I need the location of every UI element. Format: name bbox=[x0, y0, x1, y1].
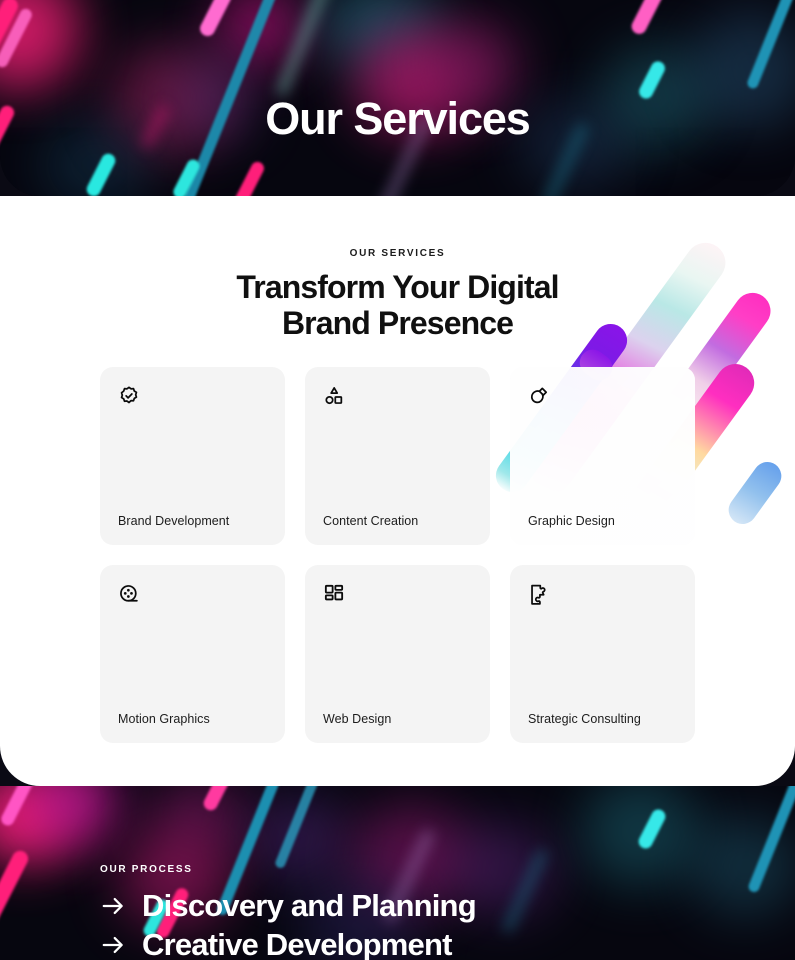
paint-brush-icon bbox=[528, 385, 550, 407]
section-eyebrow: OUR SERVICES bbox=[0, 248, 795, 259]
service-card-content-creation[interactable]: Content Creation bbox=[305, 367, 490, 545]
film-reel-icon bbox=[118, 583, 140, 605]
page-title: Our Services bbox=[0, 96, 795, 141]
service-card-label: Graphic Design bbox=[528, 514, 615, 528]
service-card-web-design[interactable]: Web Design bbox=[305, 565, 490, 743]
service-card-brand-development[interactable]: Brand Development bbox=[100, 367, 285, 545]
process-eyebrow: OUR PROCESS bbox=[100, 864, 193, 875]
process-item-label: Creative Development bbox=[142, 925, 452, 960]
service-card-label: Web Design bbox=[323, 712, 391, 726]
arrow-right-icon bbox=[100, 932, 126, 958]
service-card-graphic-design[interactable]: Graphic Design bbox=[510, 367, 695, 545]
hero-section: Our Services bbox=[0, 0, 795, 196]
service-card-label: Strategic Consulting bbox=[528, 712, 641, 726]
service-card-motion-graphics[interactable]: Motion Graphics bbox=[100, 565, 285, 743]
services-card-grid: Brand Development Content Creation bbox=[100, 367, 696, 743]
layout-grid-icon bbox=[323, 583, 345, 605]
section-headline: Transform Your Digital Brand Presence bbox=[0, 270, 795, 342]
process-item-creative-development[interactable]: Creative Development bbox=[100, 925, 775, 960]
process-item-discovery-and-planning[interactable]: Discovery and Planning bbox=[100, 886, 775, 925]
services-page: Our Services OUR SERVICES Transform Your… bbox=[0, 0, 795, 960]
puzzle-piece-icon bbox=[528, 583, 550, 605]
services-section: OUR SERVICES Transform Your Digital Bran… bbox=[0, 196, 795, 786]
service-card-label: Content Creation bbox=[323, 514, 418, 528]
headline-line-1: Transform Your Digital bbox=[0, 270, 795, 306]
service-card-strategic-consulting[interactable]: Strategic Consulting bbox=[510, 565, 695, 743]
headline-line-2: Brand Presence bbox=[0, 306, 795, 342]
process-list: Discovery and Planning Creative Developm… bbox=[100, 886, 775, 960]
arrow-right-icon bbox=[100, 893, 126, 919]
service-card-label: Brand Development bbox=[118, 514, 229, 528]
process-item-label: Discovery and Planning bbox=[142, 886, 476, 925]
service-card-label: Motion Graphics bbox=[118, 712, 210, 726]
process-section: OUR PROCESS Discovery and Planning Creat… bbox=[0, 786, 795, 960]
shapes-icon bbox=[323, 385, 345, 407]
verified-badge-icon bbox=[118, 385, 140, 407]
